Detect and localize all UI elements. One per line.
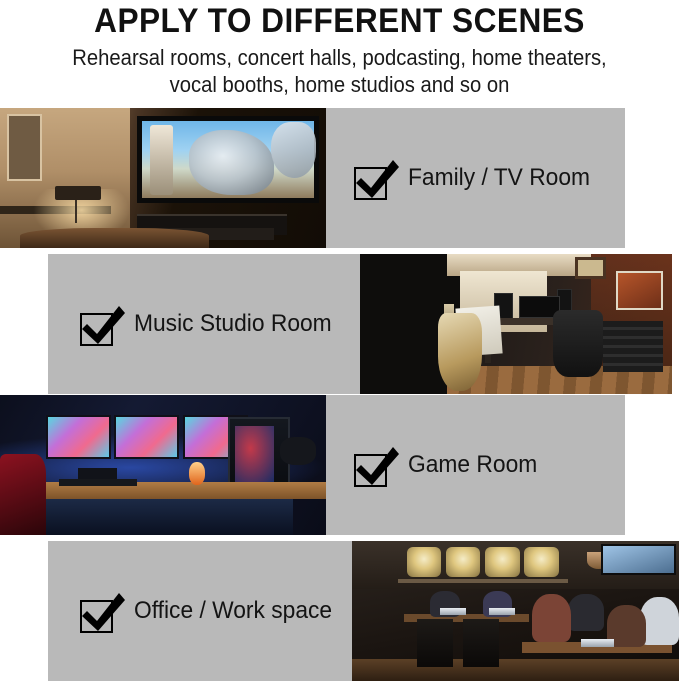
scene-label-music-studio-room: Music Studio Room	[134, 310, 332, 338]
checkbox-family-tv-room[interactable]	[354, 156, 394, 200]
scene-photo-office-work-space	[352, 541, 679, 681]
checkbox-office-work-space[interactable]	[80, 589, 120, 633]
checkmark-icon	[79, 300, 127, 348]
page-title: APPLY TO DIFFERENT SCENES	[24, 2, 655, 40]
checkmark-icon	[353, 154, 401, 202]
scene-label-panel-game-room[interactable]: Game Room	[326, 395, 625, 535]
scene-photo-family-tv-room	[0, 108, 326, 248]
subtitle-line-2: vocal booths, home studios and so on	[27, 71, 652, 98]
page-subtitle: Rehearsal rooms, concert halls, podcasti…	[27, 40, 652, 98]
scene-label-panel-music-studio-room[interactable]: Music Studio Room	[48, 254, 360, 394]
scene-label-office-work-space: Office / Work space	[134, 597, 332, 625]
scene-label-family-tv-room: Family / TV Room	[408, 164, 590, 192]
scene-row-family-tv-room: Family / TV Room	[0, 108, 679, 248]
scene-label-panel-office-work-space[interactable]: Office / Work space	[48, 541, 352, 681]
scene-row-music-studio-room: Music Studio Room	[0, 254, 679, 394]
scene-row-office-work-space: Office / Work space	[0, 541, 679, 681]
scene-photo-music-studio-room	[360, 254, 672, 394]
scene-label-game-room: Game Room	[408, 451, 537, 479]
scene-label-panel-family-tv-room[interactable]: Family / TV Room	[326, 108, 625, 248]
scene-row-game-room: Game Room	[0, 395, 679, 535]
checkbox-music-studio-room[interactable]	[80, 302, 120, 346]
apply-to-different-scenes-page: APPLY TO DIFFERENT SCENES Rehearsal room…	[0, 0, 679, 697]
checkbox-game-room[interactable]	[354, 443, 394, 487]
checkmark-icon	[79, 587, 127, 635]
subtitle-line-1: Rehearsal rooms, concert halls, podcasti…	[27, 44, 652, 71]
checkmark-icon	[353, 441, 401, 489]
scene-photo-game-room	[0, 395, 326, 535]
header: APPLY TO DIFFERENT SCENES Rehearsal room…	[0, 0, 679, 98]
